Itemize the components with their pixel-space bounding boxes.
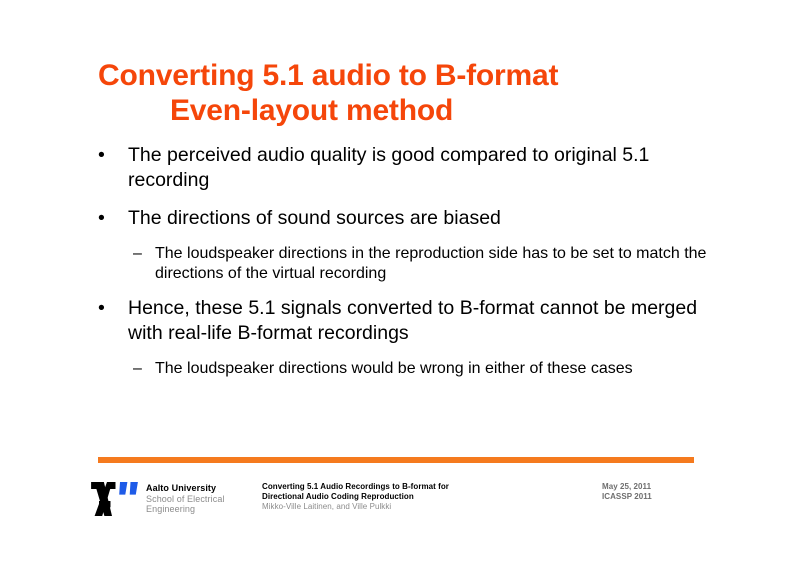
slide-body: • The perceived audio quality is good co… [96,143,716,391]
aalto-school-line-1: School of Electrical [146,494,225,505]
bullet-text: Hence, these 5.1 signals converted to B-… [128,297,697,344]
sub-bullet-item: – The loudspeaker directions would be wr… [96,359,716,379]
bullet-item: • The perceived audio quality is good co… [96,143,716,193]
paper-title-line-2: Directional Audio Coding Reproduction [262,492,449,502]
bullet-marker-icon: • [98,206,105,231]
bullet-text: The directions of sound sources are bias… [128,207,501,229]
sub-bullet-item: – The loudspeaker directions in the repr… [96,244,716,284]
presentation-date: May 25, 2011 [602,482,652,492]
paper-title-line-1: Converting 5.1 Audio Recordings to B-for… [262,482,449,492]
bullet-text: The perceived audio quality is good comp… [128,144,649,191]
aalto-logo: Aalto University School of Electrical En… [88,480,238,524]
conference-name: ICASSP 2011 [602,492,652,502]
sub-bullet-text: The loudspeaker directions would be wron… [155,360,633,377]
aalto-school-line-2: Engineering [146,504,225,515]
dash-marker-icon: – [133,244,142,264]
slide-title-line-2: Even-layout method [98,93,738,128]
aalto-logo-text: Aalto University School of Electrical En… [146,483,225,515]
bullet-marker-icon: • [98,296,105,321]
bullet-marker-icon: • [98,143,105,168]
slide-title-line-1: Converting 5.1 audio to B-format [98,58,738,93]
slide-title: Converting 5.1 audio to B-format Even-la… [98,58,738,128]
paper-authors: Mikko-Ville Laitinen, and Ville Pulkki [262,502,449,512]
bullet-item: • The directions of sound sources are bi… [96,206,716,231]
dash-marker-icon: – [133,359,142,379]
aalto-org-name: Aalto University [146,483,225,494]
footer-paper-info: Converting 5.1 Audio Recordings to B-for… [262,482,449,512]
sub-bullet-text: The loudspeaker directions in the reprod… [155,245,706,282]
slide-canvas: Converting 5.1 audio to B-format Even-la… [0,0,800,565]
bullet-item: • Hence, these 5.1 signals converted to … [96,296,716,346]
footer-divider-rule [98,457,694,463]
footer-event-info: May 25, 2011 ICASSP 2011 [602,482,652,501]
slide-footer: Aalto University School of Electrical En… [0,478,800,528]
aalto-logo-icon [88,480,142,518]
